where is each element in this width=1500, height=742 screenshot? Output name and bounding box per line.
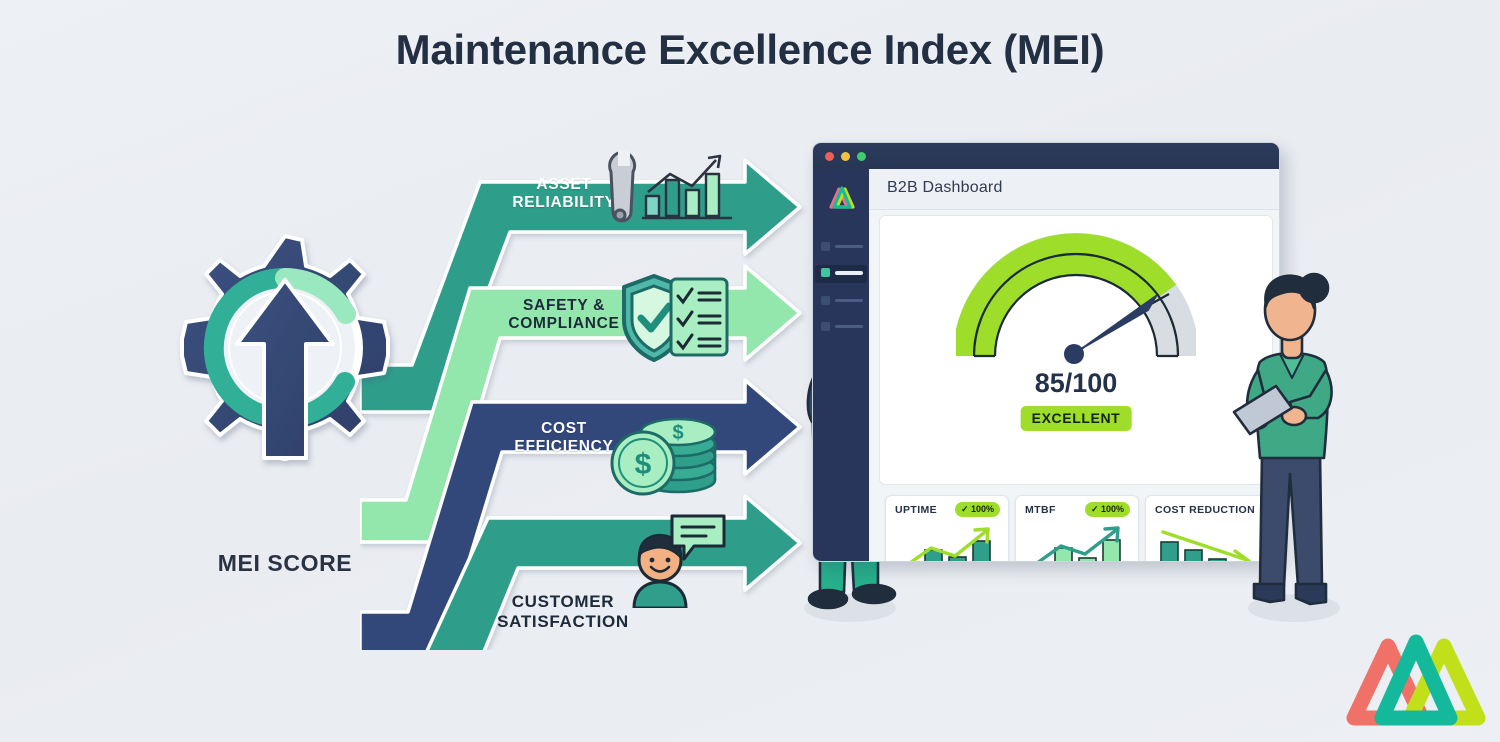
- gauge-value-text: 85/100: [880, 368, 1272, 399]
- sidebar-nav-row-1[interactable]: [821, 239, 863, 255]
- gauge-status-badge: EXCELLENT: [1021, 406, 1132, 431]
- minimize-icon[interactable]: [841, 152, 850, 161]
- nav-dot-icon: [821, 322, 830, 331]
- mei-gauge-icon: [956, 232, 1196, 372]
- mei-score-label: MEI SCORE: [150, 550, 420, 577]
- pillar-label-line2: COMPLIANCE: [498, 315, 630, 333]
- dashboard-title: B2B Dashboard: [887, 179, 1003, 197]
- bar-chart-growth-icon: [640, 152, 740, 224]
- nav-dot-icon: [821, 242, 830, 251]
- pillar-label-line2: SATISFACTION: [484, 612, 642, 632]
- mei-score-hub: MEI SCORE: [150, 232, 420, 592]
- kpi-chart-up-icon: [893, 524, 999, 562]
- dashboard-header: B2B Dashboard: [869, 169, 1279, 210]
- dollar-coin-icon: $: [608, 428, 678, 498]
- gear-with-up-arrow-icon: [150, 232, 420, 542]
- kpi-title: UPTIME: [895, 504, 937, 516]
- pillar-label-line1: CUSTOMER: [484, 592, 642, 612]
- nav-label-bar: [835, 245, 863, 248]
- kpi-card-mtbf[interactable]: MTBF ✓ 100%: [1015, 495, 1139, 562]
- gauge-panel: 85/100 EXCELLENT: [879, 215, 1273, 485]
- window-titlebar: [813, 143, 1279, 169]
- dashboard-sidebar: [813, 169, 869, 561]
- pillar-label-safety-compliance: SAFETY & COMPLIANCE: [498, 297, 630, 333]
- svg-text:$: $: [635, 448, 652, 481]
- nav-dot-icon: [821, 268, 830, 277]
- sidebar-nav-row-4[interactable]: [821, 319, 863, 335]
- nav-dot-icon: [821, 296, 830, 305]
- pillar-label-customer-satisfaction: CUSTOMER SATISFACTION: [484, 592, 642, 631]
- sidebar-nav-row-2-active[interactable]: [815, 265, 867, 283]
- dashboard-window[interactable]: B2B Dashboard 85/100 EXCELLENT: [812, 142, 1280, 562]
- pillar-ribbons: [360, 150, 820, 650]
- kpi-chart-up-icon: [1023, 524, 1129, 562]
- kpi-title: MTBF: [1025, 504, 1056, 516]
- close-icon[interactable]: [825, 152, 834, 161]
- nav-label-bar: [835, 271, 863, 275]
- brand-triangle-logo-icon: [1344, 622, 1496, 734]
- kpi-badge: ✓ 100%: [955, 502, 1000, 517]
- kpi-badge: ✓ 100%: [1085, 502, 1130, 517]
- infographic-canvas: Maintenance Excellence Index (MEI) ASSET…: [0, 0, 1500, 742]
- sidebar-nav-row-3[interactable]: [821, 293, 863, 309]
- triangle-logo-icon: [826, 181, 858, 211]
- page-title: Maintenance Excellence Index (MEI): [0, 26, 1500, 74]
- nav-label-bar: [835, 299, 863, 302]
- pillar-label-line1: SAFETY &: [498, 297, 630, 315]
- nav-label-bar: [835, 325, 863, 328]
- checklist-icon: [668, 276, 732, 358]
- kpi-card-uptime[interactable]: UPTIME ✓ 100%: [885, 495, 1009, 562]
- maximize-icon[interactable]: [857, 152, 866, 161]
- analyst-female-illustration: [1232, 268, 1362, 630]
- speech-bubble-icon: [668, 512, 728, 564]
